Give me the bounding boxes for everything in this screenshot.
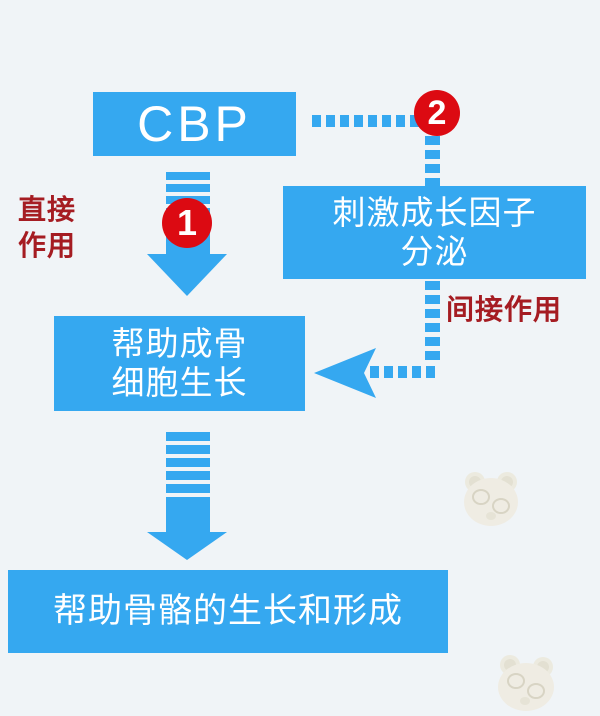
dashed-connector-cbp-to-growth-factor-vertical	[425, 136, 440, 188]
arrow-left-icon	[314, 348, 376, 398]
node-bone-formation[interactable]: 帮助骨骼的生长和形成	[8, 570, 448, 653]
dashed-connector-growth-factor-to-osteoblast-horizontal	[370, 366, 440, 378]
bear-tablet-icon	[492, 650, 560, 716]
bear-tablet-icon	[458, 466, 524, 532]
step-badge-2-label: 2	[428, 96, 447, 130]
node-growth-factor-label: 刺激成长因子 分泌	[333, 194, 537, 272]
diagram-canvas: CBP 刺激成长因子 分泌 帮助成骨 细胞生长 帮助骨骼的生长和形成 直接 作用…	[0, 0, 600, 716]
arrow-down-outcome-icon	[145, 432, 229, 562]
label-direct-action: 直接 作用	[18, 192, 76, 264]
label-indirect-action: 间接作用	[446, 292, 562, 328]
step-badge-2: 2	[414, 90, 460, 136]
dashed-connector-growth-factor-to-osteoblast-vertical	[425, 281, 440, 365]
node-osteoblast[interactable]: 帮助成骨 细胞生长	[54, 316, 305, 411]
node-cbp[interactable]: CBP	[93, 92, 296, 156]
node-osteoblast-label: 帮助成骨 细胞生长	[112, 325, 248, 403]
step-badge-1-label: 1	[177, 205, 197, 241]
node-cbp-label: CBP	[137, 95, 252, 154]
node-growth-factor[interactable]: 刺激成长因子 分泌	[283, 186, 586, 279]
node-bone-formation-label: 帮助骨骼的生长和形成	[53, 591, 403, 631]
step-badge-1: 1	[162, 198, 212, 248]
